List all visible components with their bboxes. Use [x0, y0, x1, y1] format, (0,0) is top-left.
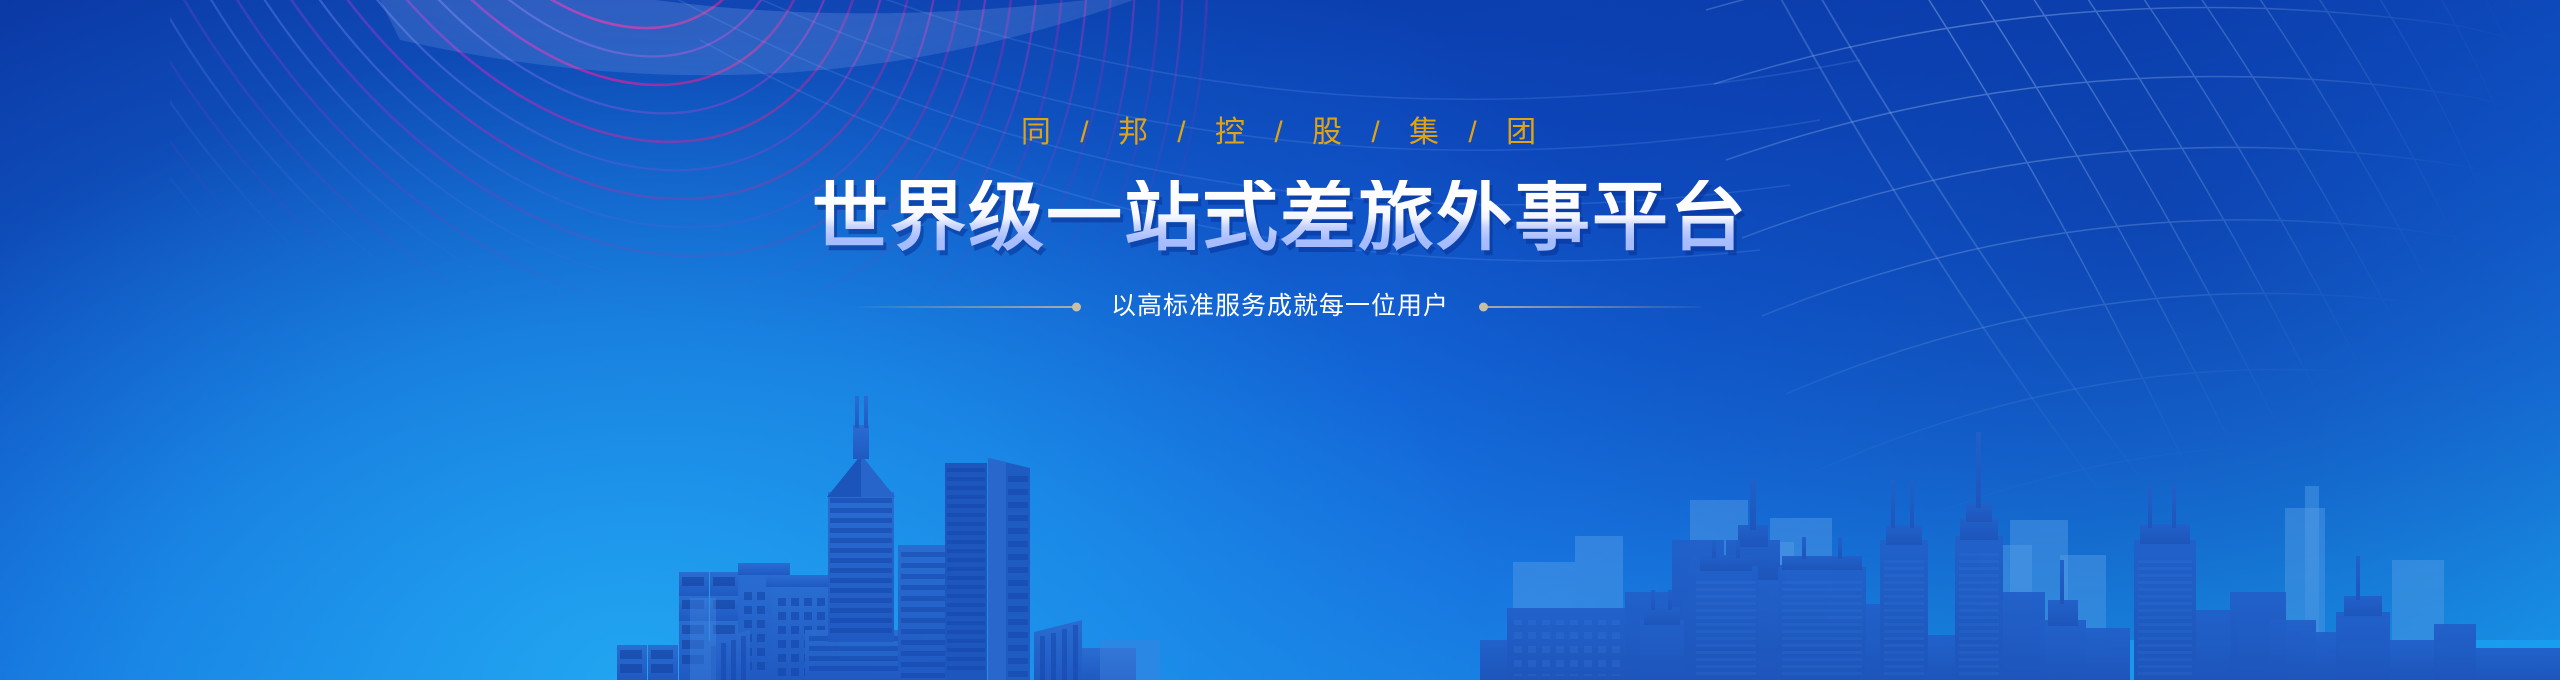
eyebrow-char-6: 团 [1504, 116, 1541, 149]
hero-content: 同 / 邦 / 控 / 股 / 集 / 团 世界级一站式差旅外事平台 以高标准服… [0, 118, 2560, 319]
subtitle-rule-right [1481, 306, 1701, 308]
hero-banner: 同 / 邦 / 控 / 股 / 集 / 团 世界级一站式差旅外事平台 以高标准服… [0, 0, 2560, 680]
windowed-midrise [738, 563, 844, 680]
skyline-left-far [690, 598, 1160, 680]
eyebrow-char-1: 同 [1019, 116, 1056, 149]
magenta-arc-decoration [0, 0, 2560, 680]
ribbed-skyscraper [945, 458, 1030, 680]
subtitle-dot-left [1072, 302, 1081, 311]
hero-subline: 以高标准服务成就每一位用户 [0, 294, 2560, 319]
company-name-eyebrow: 同 / 邦 / 控 / 股 / 集 / 团 [0, 118, 2560, 148]
eyebrow-separator-5: / [1455, 116, 1492, 149]
eyebrow-separator-2: / [1164, 116, 1201, 149]
background-glow-top-right [1400, 0, 2560, 640]
background-glow-bottom-left [0, 0, 1680, 680]
hero-headline: 世界级一站式差旅外事平台 [0, 180, 2560, 256]
skyline-right-near [1480, 432, 2560, 680]
subtitle-rule-left [859, 306, 1079, 308]
banded-slab [898, 545, 973, 680]
eyebrow-separator-1: / [1067, 116, 1104, 149]
left-fin-slab [706, 628, 752, 680]
eyebrow-separator-3: / [1261, 116, 1298, 149]
fin-cluster-right [1034, 620, 1136, 680]
subtitle-dot-right [1479, 302, 1488, 311]
left-fin-tower [707, 630, 752, 680]
hero-subtitle: 以高标准服务成就每一位用户 [1079, 294, 1481, 319]
eyebrow-separator-4: / [1358, 116, 1395, 149]
landmark-tower [805, 396, 925, 680]
skyline-left-cluster [617, 396, 1136, 680]
city-skyline [0, 0, 2560, 680]
eyebrow-char-2: 邦 [1116, 116, 1153, 149]
skyline-right-far [1513, 486, 2444, 680]
skyline-right-windows [1511, 552, 2192, 676]
globe-mesh-decoration [0, 0, 2560, 680]
light-streak-decoration [0, 0, 2560, 680]
left-tall-fins [706, 630, 750, 680]
eyebrow-char-4: 股 [1310, 116, 1347, 149]
eyebrow-char-5: 集 [1407, 116, 1444, 149]
eyebrow-char-3: 控 [1213, 116, 1250, 149]
